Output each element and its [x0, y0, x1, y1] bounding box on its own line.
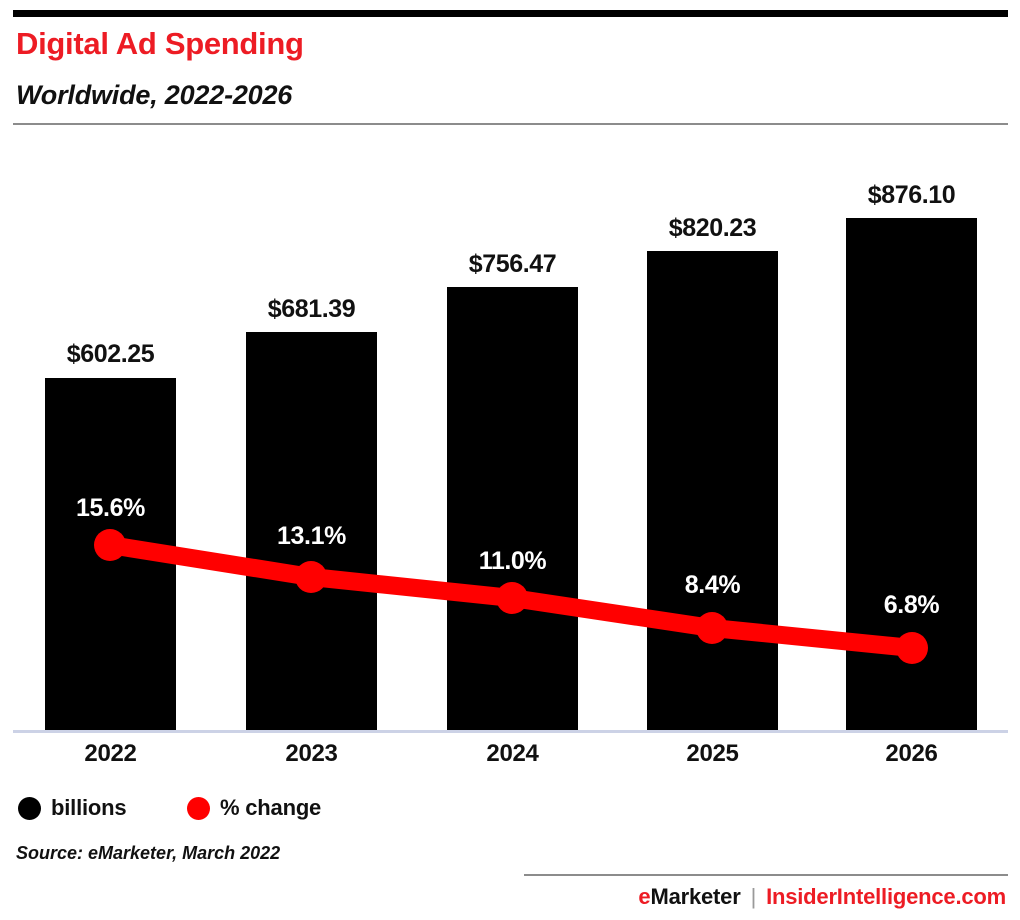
- pct-label-2022: 15.6%: [45, 494, 176, 523]
- bar-2024: [447, 287, 578, 730]
- bar-2025: [647, 251, 778, 730]
- pct-label-2024: 11.0%: [447, 547, 578, 576]
- bar-value-label-2026: $876.10: [846, 181, 977, 210]
- bar-value-label-2024: $756.47: [447, 250, 578, 279]
- footer-brand: eMarketer|InsiderIntelligence.com: [638, 884, 1006, 910]
- x-tick-2024: 2024: [447, 740, 578, 768]
- legend-item-billions: billions: [18, 795, 126, 821]
- x-tick-2023: 2023: [246, 740, 377, 768]
- footer-divider: [524, 874, 1008, 876]
- pct-label-2023: 13.1%: [246, 522, 377, 551]
- bar-value-label-2022: $602.25: [45, 340, 176, 369]
- legend-circle-icon-percent-change: [187, 797, 210, 820]
- legend-label-billions: billions: [51, 795, 126, 821]
- legend-label-percent-change: % change: [220, 795, 321, 821]
- x-tick-2022: 2022: [45, 740, 176, 768]
- pct-label-2025: 8.4%: [647, 571, 778, 600]
- brand-marketer-text: Marketer: [650, 884, 740, 909]
- x-tick-2025: 2025: [647, 740, 778, 768]
- chart-page: Digital Ad Spending Worldwide, 2022-2026…: [0, 0, 1020, 920]
- bar-value-label-2025: $820.23: [647, 214, 778, 243]
- bar-2026: [846, 218, 977, 730]
- legend-circle-icon-billions: [18, 797, 41, 820]
- source-note: Source: eMarketer, March 2022: [16, 843, 280, 864]
- brand-separator: |: [741, 884, 767, 909]
- plot-area: $602.25 $681.39 $756.47 $820.23 $876.10 …: [0, 0, 1020, 920]
- brand-e-mark: e: [638, 884, 650, 909]
- x-tick-2026: 2026: [846, 740, 977, 768]
- legend-item-percent-change: % change: [187, 795, 321, 821]
- bar-2022: [45, 378, 176, 730]
- pct-label-2026: 6.8%: [846, 591, 977, 620]
- bar-value-label-2023: $681.39: [246, 295, 377, 324]
- x-axis-line: [13, 730, 1008, 733]
- brand-website-link[interactable]: InsiderIntelligence.com: [766, 884, 1006, 909]
